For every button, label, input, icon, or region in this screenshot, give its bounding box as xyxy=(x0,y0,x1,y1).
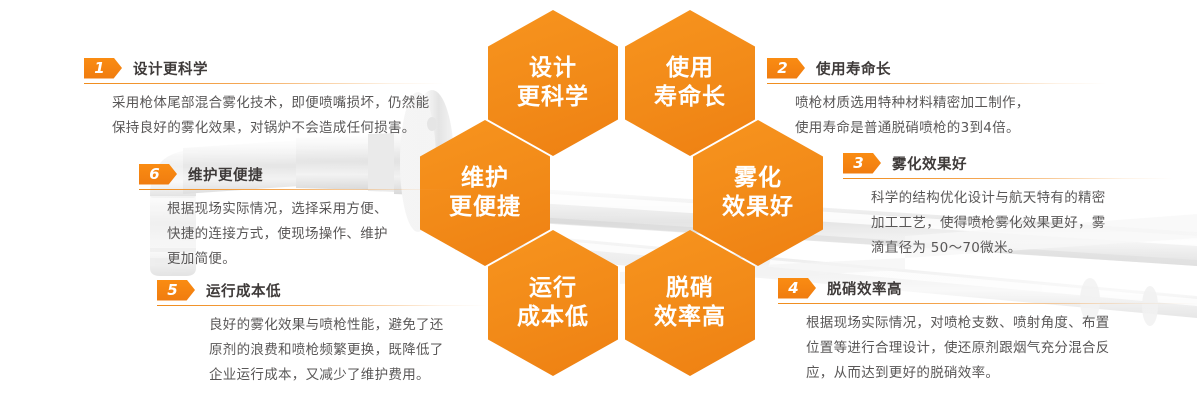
feature-body-line: 良好的雾化效果与喷枪性能，避免了还 xyxy=(209,313,487,338)
feature-divider xyxy=(767,83,1107,84)
feature-body-line: 采用枪体尾部混合雾化技术，即便喷嘴损坏，仍然能 xyxy=(112,91,444,116)
feature-body-line: 根据现场实际情况，选择采用方便、 xyxy=(167,197,459,222)
hexagon-line-2: 成本低 xyxy=(517,303,589,332)
hexagon-line-2: 效率高 xyxy=(654,303,726,332)
hexagon-line-2: 更便捷 xyxy=(449,193,521,222)
feature-title: 设计更科学 xyxy=(133,58,208,79)
feature-body: 根据现场实际情况，对喷枪支数、喷射角度、布置 位置等进行合理设计，使还原剂跟烟气… xyxy=(778,311,1197,386)
feature-body-line: 使用寿命是普通脱硝喷枪的3到4倍。 xyxy=(795,116,1107,141)
hexagon-line-1: 设计 xyxy=(529,54,577,83)
feature-divider xyxy=(157,305,487,306)
feature-number-badge: 2 xyxy=(767,58,805,79)
hexagon-line-1: 雾化 xyxy=(734,164,782,193)
feature-body: 根据现场实际情况，选择采用方便、 快捷的连接方式，使现场操作、维护 更加简便。 xyxy=(139,197,459,272)
feature-divider xyxy=(778,303,1197,304)
feature-title: 脱硝效率高 xyxy=(827,278,902,299)
feature-body-line: 更加简便。 xyxy=(167,247,459,272)
feature-header: 3 雾化效果好 xyxy=(843,152,1173,174)
feature-number-badge: 6 xyxy=(139,164,177,185)
feature-header: 5 运行成本低 xyxy=(157,279,487,301)
feature-block-4: 4 脱硝效率高 根据现场实际情况，对喷枪支数、喷射角度、布置 位置等进行合理设计… xyxy=(778,277,1197,386)
feature-title: 维护更便捷 xyxy=(188,164,263,185)
feature-number-badge: 3 xyxy=(843,153,881,174)
feature-title: 雾化效果好 xyxy=(892,153,967,174)
feature-body-line: 滴直径为 50～70微米。 xyxy=(871,236,1173,261)
feature-title: 使用寿命长 xyxy=(816,58,891,79)
feature-body-line: 快捷的连接方式，使现场操作、维护 xyxy=(167,222,459,247)
feature-body: 良好的雾化效果与喷枪性能，避免了还 原剂的浪费和喷枪频繁更换，既降低了 企业运行… xyxy=(157,313,487,388)
hexagon-line-2: 效果好 xyxy=(722,193,794,222)
feature-block-3: 3 雾化效果好 科学的结构优化设计与航天特有的精密 加工工艺，使得喷枪雾化效果更… xyxy=(843,152,1173,261)
feature-body-line: 保持良好的雾化效果，对锅炉不会造成任何损害。 xyxy=(112,116,444,141)
feature-title: 运行成本低 xyxy=(206,280,281,301)
feature-header: 6 维护更便捷 xyxy=(139,163,459,185)
feature-header: 1 设计更科学 xyxy=(84,57,444,79)
hexagon-line-1: 使用 xyxy=(666,54,714,83)
feature-block-6: 6 维护更便捷 根据现场实际情况，选择采用方便、 快捷的连接方式，使现场操作、维… xyxy=(139,163,459,272)
feature-body-line: 根据现场实际情况，对喷枪支数、喷射角度、布置 xyxy=(806,311,1197,336)
hexagon-line-1: 脱硝 xyxy=(666,274,714,303)
feature-body-line: 加工工艺，使得喷枪雾化效果更好，雾 xyxy=(871,211,1173,236)
feature-body-line: 原剂的浪费和喷枪频繁更换，既降低了 xyxy=(209,338,487,363)
hexagon-line-2: 寿命长 xyxy=(654,83,726,112)
feature-body-line: 应，从而达到更好的脱硝效率。 xyxy=(806,361,1197,386)
hexagon-line-1: 维护 xyxy=(461,164,509,193)
feature-block-5: 5 运行成本低 良好的雾化效果与喷枪性能，避免了还 原剂的浪费和喷枪频繁更换，既… xyxy=(157,279,487,388)
feature-divider xyxy=(139,189,459,190)
feature-block-2: 2 使用寿命长 喷枪材质选用特种材料精密加工制作， 使用寿命是普通脱硝喷枪的3到… xyxy=(767,57,1107,141)
feature-number-badge: 5 xyxy=(157,280,195,301)
feature-number-badge: 4 xyxy=(778,278,816,299)
feature-header: 4 脱硝效率高 xyxy=(778,277,1197,299)
feature-header: 2 使用寿命长 xyxy=(767,57,1107,79)
feature-divider xyxy=(843,178,1173,179)
feature-body-line: 位置等进行合理设计，使还原剂跟烟气充分混合反 xyxy=(806,336,1197,361)
hexagon-line-2: 更科学 xyxy=(517,83,589,112)
feature-body-line: 科学的结构优化设计与航天特有的精密 xyxy=(871,186,1173,211)
feature-body: 采用枪体尾部混合雾化技术，即便喷嘴损坏，仍然能 保持良好的雾化效果，对锅炉不会造… xyxy=(84,91,444,141)
hexagon-line-1: 运行 xyxy=(529,274,577,303)
feature-body-line: 喷枪材质选用特种材料精密加工制作， xyxy=(795,91,1107,116)
feature-body: 科学的结构优化设计与航天特有的精密 加工工艺，使得喷枪雾化效果更好，雾 滴直径为… xyxy=(843,186,1173,261)
feature-number-badge: 1 xyxy=(84,58,122,79)
feature-block-1: 1 设计更科学 采用枪体尾部混合雾化技术，即便喷嘴损坏，仍然能 保持良好的雾化效… xyxy=(84,57,444,141)
feature-divider xyxy=(84,83,444,84)
infographic-canvas: 设计 更科学 使用 寿命长 维护 更便捷 雾化 效果好 运行 成本低 脱硝 效率… xyxy=(0,0,1197,413)
feature-body: 喷枪材质选用特种材料精密加工制作， 使用寿命是普通脱硝喷枪的3到4倍。 xyxy=(767,91,1107,141)
feature-body-line: 企业运行成本，又减少了维护费用。 xyxy=(209,363,487,388)
